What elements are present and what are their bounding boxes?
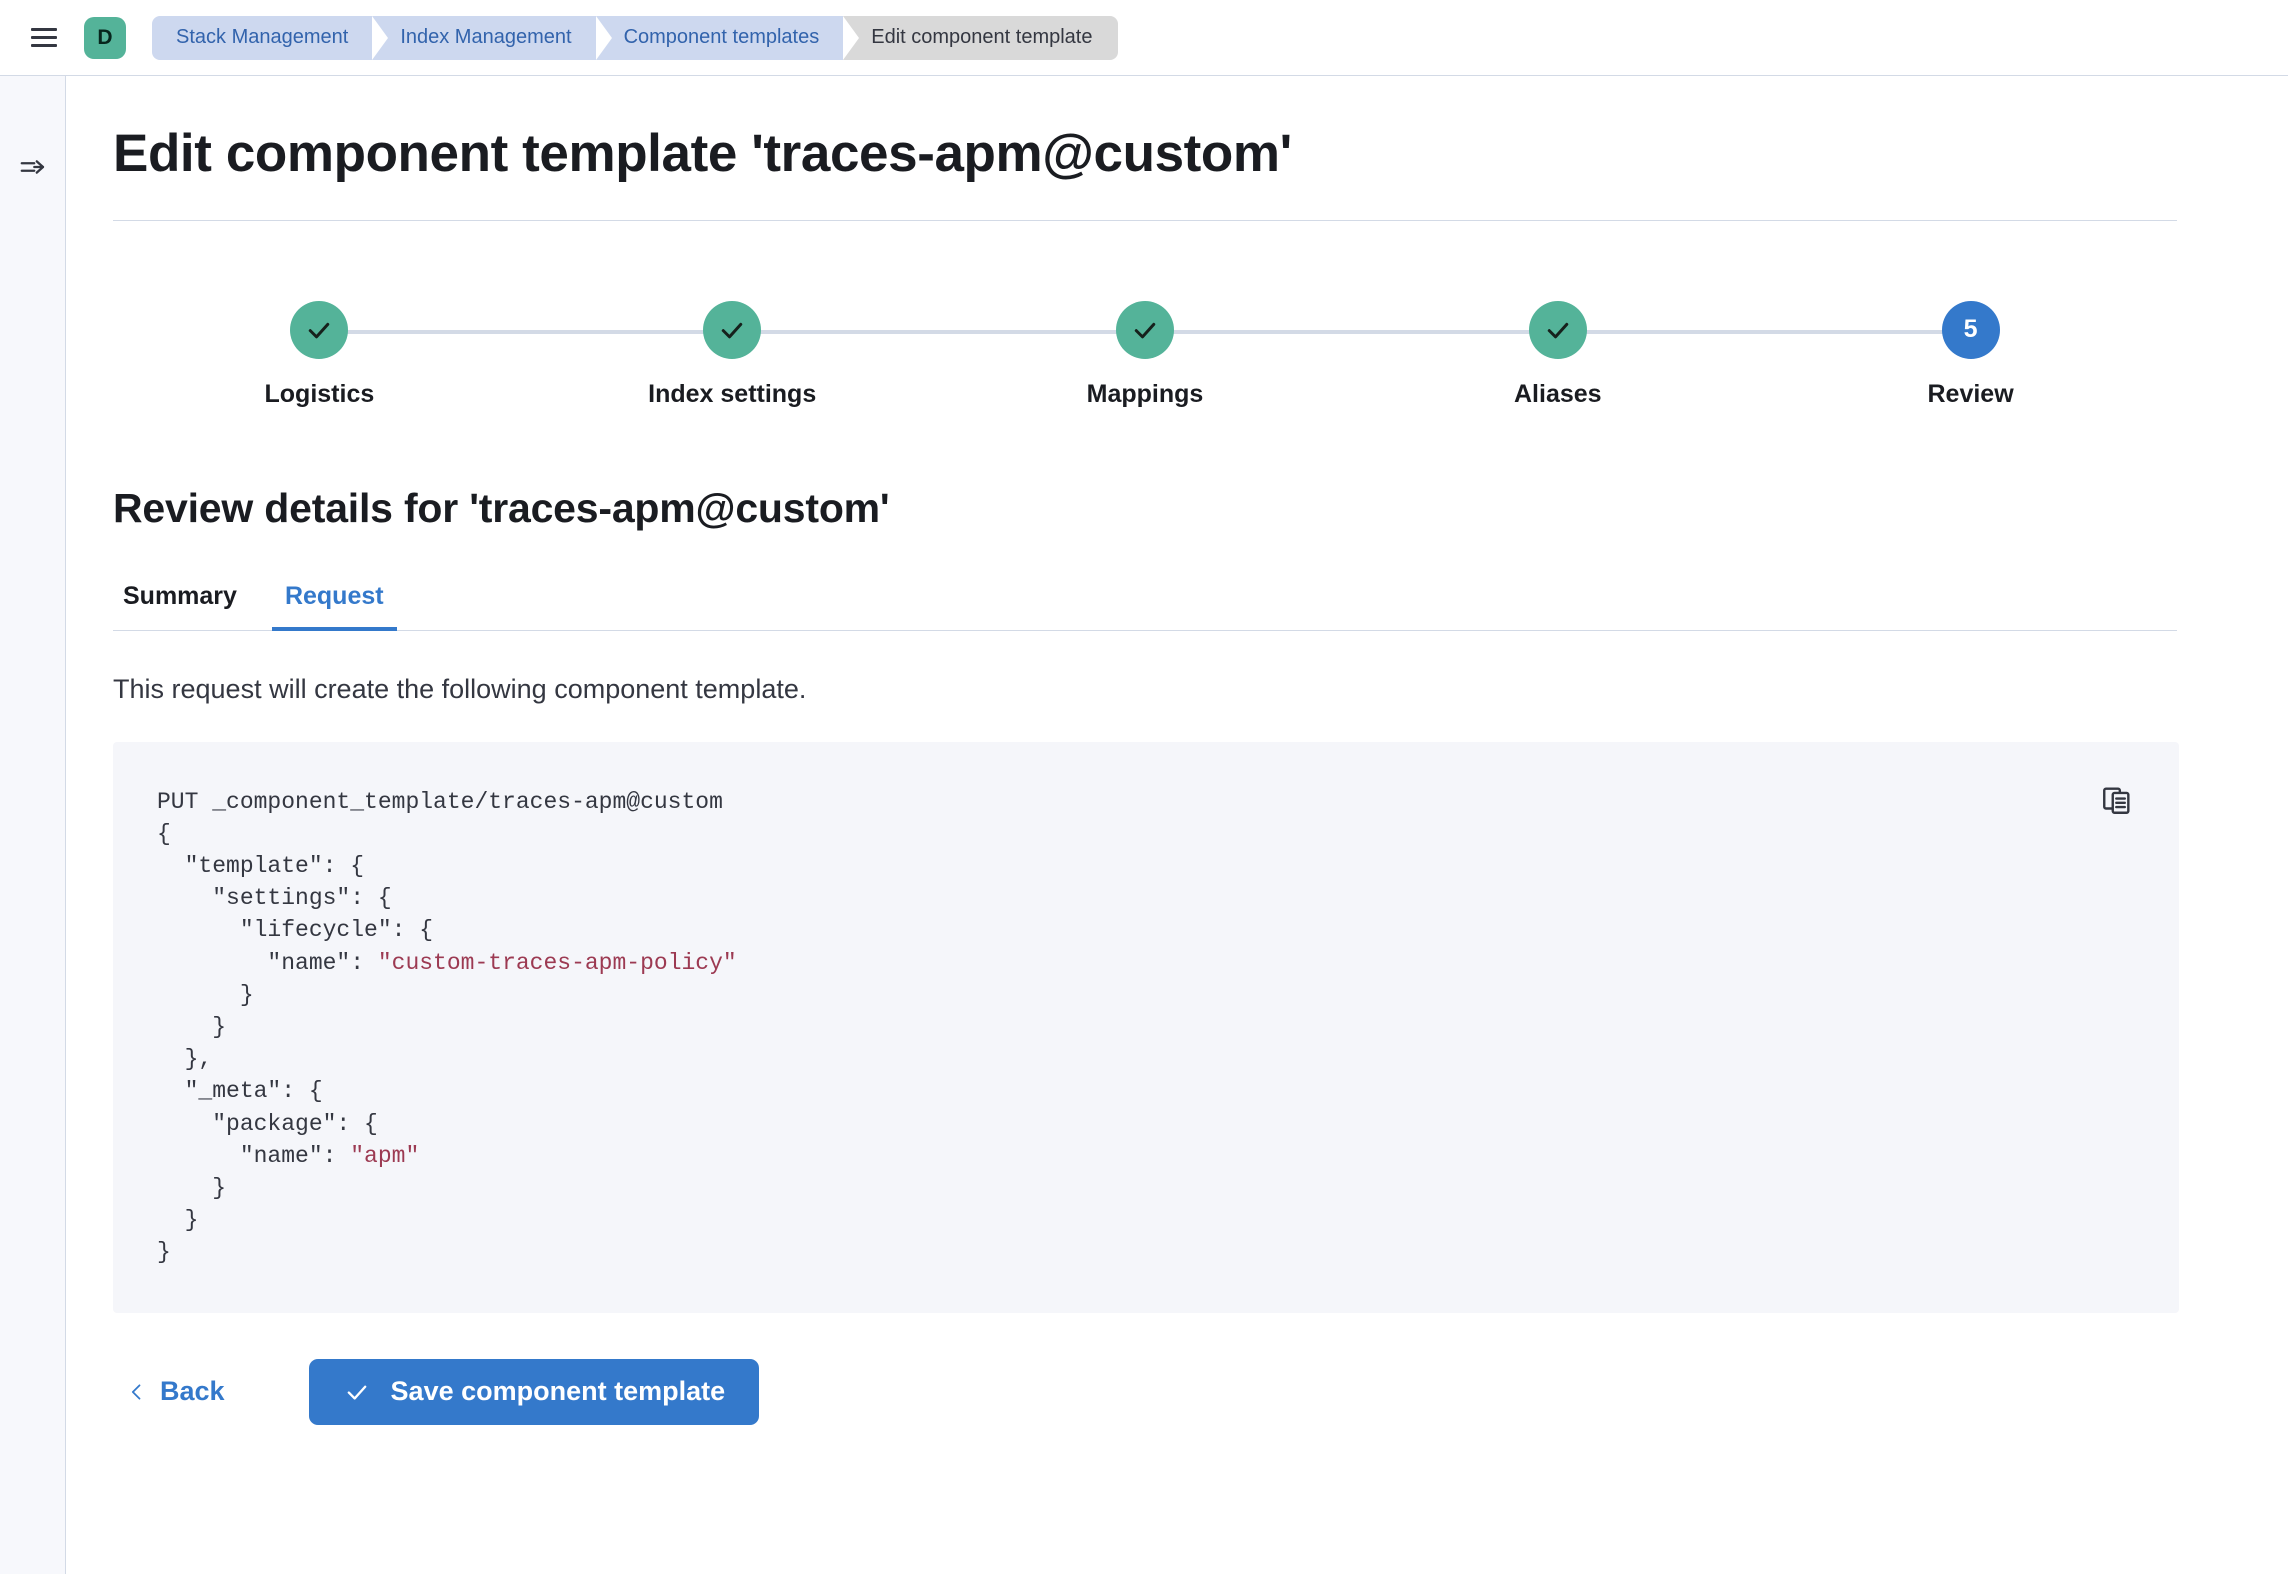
code-line: "lifecycle": { bbox=[157, 917, 433, 943]
step-mappings[interactable]: Mappings bbox=[939, 301, 1352, 409]
hamburger-bar bbox=[31, 28, 57, 31]
check-icon bbox=[717, 315, 747, 345]
step-number: 5 bbox=[1964, 315, 1978, 344]
code-line: } bbox=[157, 982, 254, 1008]
code-line: "template": { bbox=[157, 853, 364, 879]
code-string-value: "apm" bbox=[350, 1143, 419, 1169]
step-label: Mappings bbox=[1087, 380, 1204, 409]
code-line: } bbox=[157, 1207, 198, 1233]
code-line: "name": bbox=[157, 1143, 350, 1169]
lead-text: This request will create the following c… bbox=[113, 674, 2288, 705]
code-line: } bbox=[157, 1239, 171, 1265]
step-bubble-complete bbox=[1529, 301, 1587, 359]
save-component-template-button[interactable]: Save component template bbox=[309, 1359, 760, 1425]
step-label: Aliases bbox=[1514, 380, 1602, 409]
breadcrumb: Stack Management Index Management Compon… bbox=[152, 16, 1118, 60]
tab-summary[interactable]: Summary bbox=[110, 582, 250, 631]
breadcrumb-item-component-templates[interactable]: Component templates bbox=[596, 16, 844, 60]
check-icon bbox=[1543, 315, 1573, 345]
tab-request[interactable]: Request bbox=[272, 582, 397, 631]
code-line: "settings": { bbox=[157, 885, 392, 911]
title-divider bbox=[113, 220, 2177, 221]
main-content: Edit component template 'traces-apm@cust… bbox=[67, 76, 2288, 1574]
hamburger-bar bbox=[31, 36, 57, 39]
page-title: Edit component template 'traces-apm@cust… bbox=[113, 122, 2288, 186]
step-label: Index settings bbox=[648, 380, 816, 409]
check-icon bbox=[304, 315, 334, 345]
step-bubble-current: 5 bbox=[1942, 301, 2000, 359]
copy-clipboard-icon[interactable] bbox=[2093, 776, 2141, 824]
expand-panel-arrow-icon[interactable] bbox=[12, 146, 54, 188]
breadcrumb-item-index-management[interactable]: Index Management bbox=[372, 16, 595, 60]
step-label: Logistics bbox=[265, 380, 375, 409]
request-code-text[interactable]: PUT _component_template/traces-apm@custo… bbox=[157, 786, 2179, 1269]
breadcrumb-item-stack-management[interactable]: Stack Management bbox=[152, 16, 372, 60]
tab-bar: Summary Request bbox=[113, 582, 2177, 631]
code-line: "package": { bbox=[157, 1111, 378, 1137]
chevron-left-icon bbox=[127, 1378, 147, 1406]
step-bubble-complete bbox=[290, 301, 348, 359]
back-button[interactable]: Back bbox=[113, 1366, 239, 1417]
code-line: } bbox=[157, 1014, 226, 1040]
avatar[interactable]: D bbox=[84, 17, 126, 59]
step-logistics[interactable]: Logistics bbox=[113, 301, 526, 409]
code-line: PUT _component_template/traces-apm@custo… bbox=[157, 789, 723, 815]
wizard-actions: Back Save component template bbox=[113, 1359, 2288, 1425]
code-line: } bbox=[157, 1175, 226, 1201]
wizard-stepper: Logistics Index settings Mappi bbox=[113, 301, 2177, 409]
back-button-label: Back bbox=[160, 1376, 225, 1407]
code-line: { bbox=[157, 821, 171, 847]
code-line: "_meta": { bbox=[157, 1078, 323, 1104]
section-title: Review details for 'traces-apm@custom' bbox=[113, 485, 2288, 532]
step-aliases[interactable]: Aliases bbox=[1351, 301, 1764, 409]
step-review[interactable]: 5 Review bbox=[1764, 301, 2177, 409]
step-bubble-complete bbox=[703, 301, 761, 359]
hamburger-menu-icon[interactable] bbox=[24, 18, 64, 58]
code-string-value: "custom-traces-apm-policy" bbox=[378, 950, 737, 976]
save-button-label: Save component template bbox=[391, 1376, 726, 1407]
request-code-block: PUT _component_template/traces-apm@custo… bbox=[113, 742, 2179, 1313]
step-index-settings[interactable]: Index settings bbox=[526, 301, 939, 409]
hamburger-bar bbox=[31, 44, 57, 47]
code-line: }, bbox=[157, 1046, 212, 1072]
left-rail bbox=[0, 76, 66, 1574]
check-icon bbox=[343, 1378, 371, 1406]
code-line: "name": bbox=[157, 950, 378, 976]
check-icon bbox=[1130, 315, 1160, 345]
step-label: Review bbox=[1928, 380, 2014, 409]
breadcrumb-item-edit-component-template: Edit component template bbox=[843, 16, 1118, 60]
step-bubble-complete bbox=[1116, 301, 1174, 359]
top-navigation-bar: D Stack Management Index Management Comp… bbox=[0, 0, 2288, 76]
